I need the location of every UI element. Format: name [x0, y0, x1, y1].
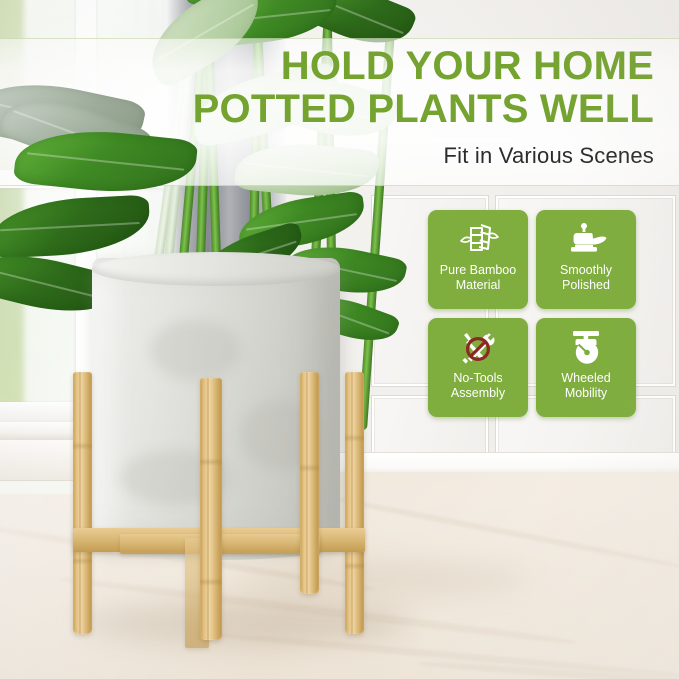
- feature-badge-grid: Pure BambooMaterial SmoothlyPolished: [428, 210, 644, 416]
- stand-leg-front-right: [300, 372, 319, 594]
- bamboo-stalks-icon: [456, 219, 500, 261]
- pot-rim: [92, 252, 340, 286]
- headline-line-1: HOLD YOUR HOME: [281, 44, 654, 88]
- feature-badge-pure-bamboo-material[interactable]: Pure BambooMaterial: [428, 210, 528, 309]
- hand-plane-icon: [564, 219, 608, 261]
- badge-label: WheeledMobility: [557, 371, 614, 400]
- badge-label: SmoothlyPolished: [556, 263, 616, 292]
- caster-wheel-icon: [564, 327, 608, 369]
- no-tools-icon: [456, 327, 500, 369]
- badge-label: Pure BambooMaterial: [436, 263, 520, 292]
- stand-leg-back-left: [73, 372, 92, 634]
- feature-badge-no-tools-assembly[interactable]: No-ToolsAssembly: [428, 318, 528, 417]
- product-marketing-image: HOLD YOUR HOME POTTED PLANTS WELL Fit in…: [0, 0, 679, 679]
- pot-texture: [150, 320, 240, 380]
- badge-label: No-ToolsAssembly: [447, 371, 509, 400]
- feature-badge-wheeled-mobility[interactable]: WheeledMobility: [536, 318, 636, 417]
- stand-leg-back-right: [345, 372, 364, 634]
- stand-leg-front-center: [200, 378, 222, 640]
- feature-badge-smoothly-polished[interactable]: SmoothlyPolished: [536, 210, 636, 309]
- page-subtitle: Fit in Various Scenes: [444, 143, 654, 169]
